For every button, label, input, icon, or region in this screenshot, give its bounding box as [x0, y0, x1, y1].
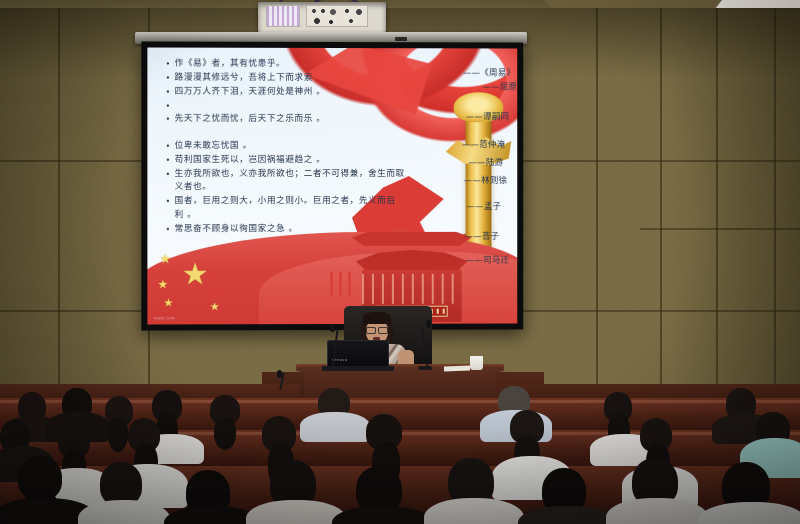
slide-bullet-item: • 路漫漫其修远兮，吾将上下而求索	[166, 71, 458, 84]
slide-bullet-item: • 常思奋不顾身以徇国家之急 。	[166, 223, 458, 236]
gate-flagpoles	[330, 272, 356, 296]
bullet-text: 四万万人齐下泪，天涯何处是神州 。	[175, 85, 326, 98]
bullet-text: 常思奋不顾身以徇国家之急 。	[175, 223, 298, 235]
slide-watermark: VEER.COM	[153, 316, 174, 320]
slide-attribution: ——陆游	[468, 156, 503, 168]
bullet-text: 路漫漫其修远兮，吾将上下而求索	[175, 71, 313, 84]
bullet-marker: •	[166, 154, 175, 166]
flag-star-small: ★	[159, 253, 171, 266]
slide-bullet-continuation: 利 。	[166, 209, 458, 221]
bullet-text: 先天下之忧而忧，后天下之乐而乐 。	[175, 113, 326, 125]
bullet-marker: •	[166, 85, 175, 97]
paper-sheet	[444, 366, 470, 372]
bullet-marker: •	[166, 58, 175, 70]
slide-bullet-item: • 先天下之忧而忧，后天下之乐而乐 。	[166, 113, 458, 126]
bullet-text: 国者，巨用之则大，小用之则小。巨用之者，先义而后	[175, 195, 396, 207]
slide-attribution: ——林则徐	[464, 174, 508, 186]
glasses-icon	[366, 327, 388, 332]
bullet-marker: •	[166, 71, 175, 83]
microphone-side	[274, 370, 290, 392]
slide-bullet-item: • 作《易》者，其有忧患乎。	[166, 58, 458, 71]
slide-bullet-item: • 苟利国家生死以，岂因祸福避趋之 。	[166, 154, 458, 167]
slide-spacer-line	[166, 127, 458, 138]
chinese-flag-graphic: ★ ★ ★ ★ ★	[147, 232, 517, 325]
slide-attribution: ——谭嗣同	[466, 110, 510, 122]
bullet-marker: •	[166, 113, 175, 125]
slide-bullet-item: • 位卑未敢忘忧国 。	[166, 140, 458, 153]
bullet-marker: •	[166, 223, 175, 235]
audience-shoulders	[300, 412, 370, 442]
flag-star-large: ★	[182, 260, 209, 290]
bullet-marker: •	[166, 99, 175, 111]
slide-attribution: ——荅子	[464, 230, 499, 242]
microphone-right	[418, 320, 434, 370]
bullet-text: 生亦我所欲也，义亦我所欲也；二者不可得兼，舍生而取	[175, 167, 405, 179]
slide-attribution: ——范仲淹	[462, 138, 506, 150]
presentation-slide: ★ ★ ★ ★ ★ • 作《易》者，其有忧患乎。	[147, 47, 517, 324]
flag-star-small: ★	[210, 301, 220, 312]
flag-star-small: ★	[163, 297, 173, 308]
microphone-base	[418, 366, 432, 370]
audience-ponytail	[214, 418, 236, 450]
bullet-marker: •	[166, 167, 175, 179]
slide-bullet-list: • 作《易》者，其有忧患乎。 • 路漫漫其修远兮，吾将上下而求索 • 四万万人齐…	[166, 58, 458, 237]
bullet-text: 利 。	[175, 209, 197, 221]
bullet-marker: •	[166, 195, 175, 207]
slide-attribution: ——司马迁	[466, 254, 510, 266]
slide-attribution: ——孟子	[466, 200, 501, 212]
microphone-base	[328, 366, 342, 370]
slide-bullet-item: •	[166, 99, 458, 112]
screen-housing-knob	[395, 37, 407, 41]
projector-port-panel	[306, 5, 368, 27]
microphone-head	[277, 370, 282, 378]
projection-screen: ★ ★ ★ ★ ★ • 作《易》者，其有忧患乎。	[141, 41, 523, 330]
slide-bullet-item: • 四万万人齐下泪，天涯何处是神州 。	[166, 85, 458, 98]
bullet-text: 作《易》者，其有忧患乎。	[175, 58, 286, 70]
microphone-rod	[421, 326, 429, 370]
paper-cup	[470, 356, 483, 370]
bullet-text: 位卑未敢忘忧国 。	[175, 140, 252, 152]
microphone-left	[326, 324, 342, 370]
slide-attribution: ——屈原	[482, 80, 517, 92]
bullet-text: 苟利国家生死以，岂因祸福避趋之 。	[175, 154, 326, 166]
microphone-head	[330, 324, 335, 332]
gate-columns	[362, 274, 462, 304]
microphone-head	[426, 320, 431, 328]
projector-vent	[266, 5, 300, 27]
bullet-marker	[166, 127, 175, 128]
gate-lower-roof	[356, 250, 468, 270]
flag-star-small: ★	[157, 278, 168, 290]
slide-bullet-continuation: 义者也。	[166, 181, 458, 193]
slide-bullet-item: • 国者，巨用之则大，小用之则小。巨用之者，先义而后	[166, 195, 458, 207]
slide-bullet-item: • 生亦我所欲也，义亦我所欲也；二者不可得兼，舍生而取	[166, 167, 458, 179]
microphone-rod	[332, 330, 339, 370]
audience-ponytail	[108, 418, 128, 452]
lecture-hall-scene: ★ ★ ★ ★ ★ • 作《易》者，其有忧患乎。	[0, 0, 800, 524]
bullet-text: 义者也。	[175, 181, 212, 193]
presenter-hair	[363, 312, 391, 324]
bullet-marker: •	[166, 140, 175, 152]
slide-attribution: ——《周易》	[463, 66, 515, 78]
